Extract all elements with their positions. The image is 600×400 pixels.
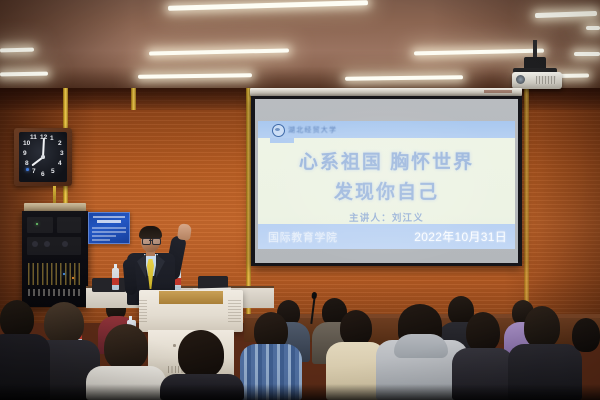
status-led: [72, 277, 74, 279]
lecture-hall-photo: 湖北经贸大学 心系祖国 胸怀世界 发现你自己 主讲人：刘江义 国际教育学院 20…: [0, 0, 600, 400]
sign-text-line: [92, 239, 110, 241]
clock-numeral: 2: [58, 141, 62, 148]
slide-footer-department: 国际教育学院: [268, 229, 338, 245]
sign-text-line: [92, 227, 126, 229]
sign-heading-bar: [97, 220, 121, 223]
front-chair: [92, 278, 126, 292]
eyeglasses-icon: [152, 238, 161, 245]
audience-member: [0, 300, 34, 338]
status-led: [36, 223, 38, 225]
water-bottle: [112, 268, 119, 290]
audience-member: [44, 302, 84, 344]
audience-member: [340, 310, 372, 346]
sign-top-rule: [93, 216, 125, 218]
clock-numeral: 5: [51, 169, 55, 176]
av-equipment-rack: [22, 211, 88, 307]
clock-numeral: 11: [30, 135, 37, 142]
university-logo-icon: [272, 124, 285, 137]
wall-trim-strip: [524, 88, 529, 318]
clock-center-pin: [41, 155, 45, 159]
rack-panel: [57, 217, 81, 233]
screen-casing-label: [484, 90, 512, 93]
projector-lens-icon: [516, 75, 525, 84]
ceiling-light-fixture: [0, 72, 48, 77]
clock-numeral: 7: [32, 169, 36, 176]
wall-notice-sign: [88, 212, 130, 244]
sign-text-line: [92, 231, 126, 233]
clock-numeral: 8: [25, 161, 29, 168]
audience-member: [466, 312, 500, 352]
university-name: 湖北经贸大学: [288, 125, 337, 135]
podium-speaker-grille: [139, 300, 147, 322]
rack-button-strip[interactable]: [28, 289, 82, 296]
audience-member: [524, 306, 560, 348]
hoodie-hood: [394, 334, 448, 358]
clock-numeral: 10: [23, 141, 30, 148]
audience-member: [178, 330, 224, 378]
slide-header-notch: [270, 138, 294, 143]
ceiling-light-fixture: [586, 26, 600, 30]
rack-knob[interactable]: [62, 241, 68, 247]
rack-panel: [27, 217, 53, 233]
clock-numeral: 6: [41, 172, 45, 179]
podium-speaker-grille: [228, 300, 241, 322]
ceiling-light-fixture: [574, 52, 600, 56]
status-led: [63, 273, 65, 275]
sign-text-line: [92, 235, 116, 237]
eyeglasses-bridge: [149, 240, 152, 241]
audience-member: [104, 324, 148, 370]
foreground-shadow: [0, 384, 600, 400]
podium-wood-top: [159, 291, 223, 304]
speaker-raised-hand: [177, 223, 192, 241]
rack-knob[interactable]: [32, 241, 38, 247]
projection-screen-surface: 湖北经贸大学 心系祖国 胸怀世界 发现你自己 主讲人：刘江义 国际教育学院 20…: [255, 99, 518, 263]
audience-member: [572, 318, 600, 352]
projector-vent: [536, 76, 556, 84]
rack-knob[interactable]: [44, 241, 50, 247]
slide-speaker-label: 主讲人：刘江义: [258, 210, 515, 224]
clock-numeral: 4: [58, 161, 62, 168]
podium-cabinet-latch[interactable]: [173, 344, 176, 347]
clock-numeral: 9: [23, 151, 27, 158]
wall-clock-face: 12 1 2 3 4 5 6 7 8 9 10 11: [19, 132, 67, 182]
eyeglasses-icon: [142, 238, 151, 245]
wall-trim-strip: [131, 88, 136, 110]
clock-numeral: 1: [50, 136, 54, 143]
presentation-slide: 湖北经贸大学 心系祖国 胸怀世界 发现你自己 主讲人：刘江义 国际教育学院 20…: [258, 121, 515, 249]
clock-indicator-led: [26, 168, 29, 171]
slide-footer-band: 国际教育学院 2022年10月31日: [258, 224, 515, 249]
mixer-fader-bank[interactable]: [28, 263, 82, 285]
slide-footer-date: 2022年10月31日: [414, 228, 507, 245]
projection-screen-casing: [250, 88, 522, 96]
slide-title-line-2: 发现你自己: [258, 177, 515, 204]
clock-numeral: 3: [60, 151, 64, 158]
slide-title-line-1: 心系祖国 胸怀世界: [258, 147, 515, 174]
